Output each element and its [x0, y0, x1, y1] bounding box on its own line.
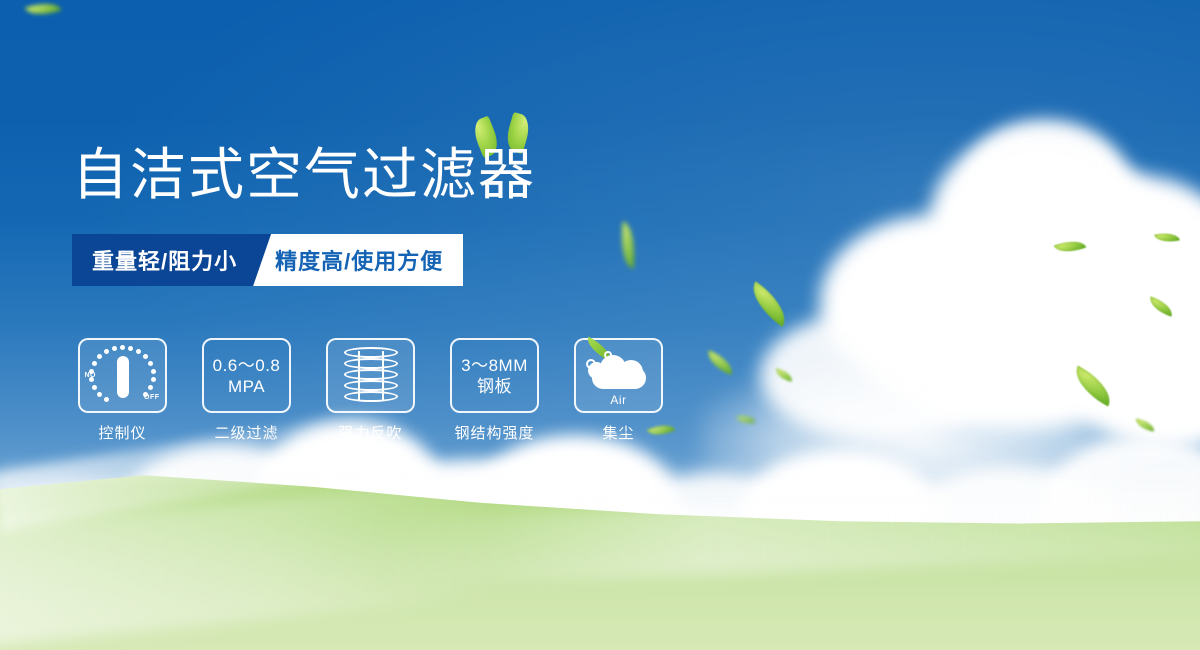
feature-label: 二级过滤: [214, 422, 278, 443]
feature-label: 集尘: [602, 422, 634, 443]
feature-label: 强力反吹: [338, 422, 402, 443]
feature-item-two-stage[interactable]: 0.6〜0.8 MPA 二级过滤: [202, 338, 291, 443]
product-banner: 自洁式空气过滤器 重量轻/阻力小 精度高/使用方便: [0, 0, 1200, 650]
feature-list: NO OFF 控制仪 0.6〜0.8 MPA 二级过滤: [78, 338, 663, 443]
gauge-label-on: NO: [85, 372, 97, 379]
filter-coil-icon: [326, 338, 415, 413]
steel-thickness: 3〜8MM: [461, 355, 528, 376]
air-label: Air: [586, 393, 652, 407]
feature-item-steel[interactable]: 3〜8MM 钢板 钢结构强度: [450, 338, 539, 443]
gauge-icon: NO OFF: [78, 338, 167, 413]
gauge-label-off: OFF: [144, 394, 160, 401]
steel-plate-icon: 3〜8MM 钢板: [450, 338, 539, 413]
feature-item-dust[interactable]: Air 集尘: [574, 338, 663, 443]
feature-item-controller[interactable]: NO OFF 控制仪: [78, 338, 167, 443]
feature-item-backblow[interactable]: 强力反吹: [326, 338, 415, 443]
subtitle-bar: 重量轻/阻力小 精度高/使用方便: [72, 234, 463, 286]
feature-label: 钢结构强度: [454, 422, 534, 443]
air-cloud-icon: Air: [574, 338, 663, 413]
pressure-icon: 0.6〜0.8 MPA: [202, 338, 291, 413]
pressure-unit: MPA: [213, 376, 281, 397]
steel-material: 钢板: [461, 376, 528, 397]
pressure-value: 0.6〜0.8: [213, 355, 281, 376]
subtitle-right: 精度高/使用方便: [253, 234, 463, 286]
gauge-needle: [117, 356, 129, 398]
subtitle-left: 重量轻/阻力小: [72, 234, 271, 286]
page-title: 自洁式空气过滤器: [72, 144, 536, 206]
feature-label: 控制仪: [98, 422, 146, 443]
